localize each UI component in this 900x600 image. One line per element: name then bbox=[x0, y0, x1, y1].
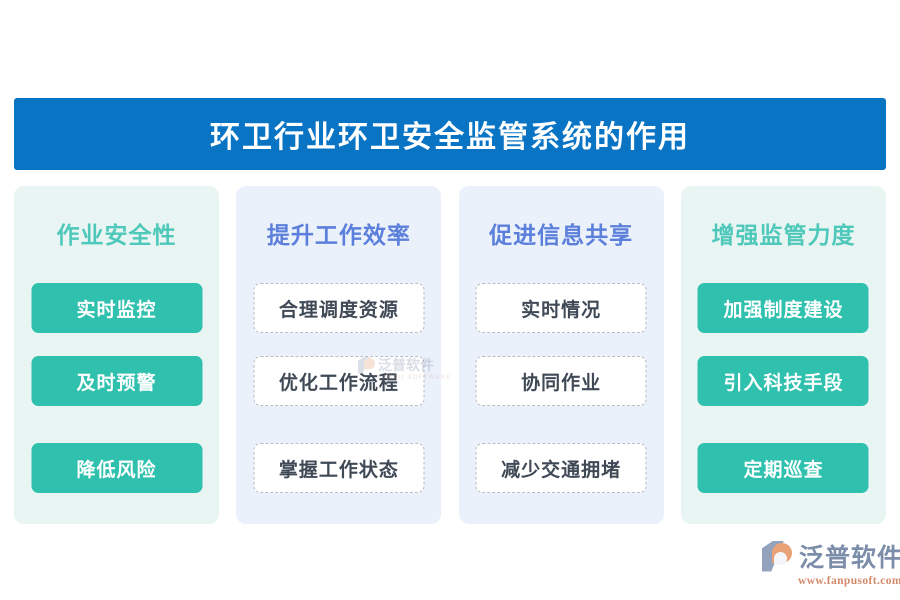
column-items-3: 实时情况 协同作业 减少交通拥堵 bbox=[459, 283, 664, 513]
column-1-item-1[interactable]: 实时监控 bbox=[31, 283, 202, 333]
column-3-item-1[interactable]: 实时情况 bbox=[476, 283, 647, 333]
column-title-2: 提升工作效率 bbox=[267, 216, 411, 250]
column-panel-2: 提升工作效率 合理调度资源 优化工作流程 掌握工作状态 bbox=[236, 186, 441, 524]
column-4-item-3[interactable]: 定期巡查 bbox=[698, 443, 869, 493]
column-1-item-3[interactable]: 降低风险 bbox=[31, 443, 202, 493]
column-1-item-2[interactable]: 及时预警 bbox=[31, 356, 202, 406]
column-2-item-3[interactable]: 掌握工作状态 bbox=[253, 443, 424, 493]
column-container: 作业安全性 实时监控 及时预警 降低风险 提升工作效率 合理调度资源 优化工作流… bbox=[14, 186, 886, 524]
column-title-4: 增强监管力度 bbox=[711, 216, 855, 250]
column-title-3: 促进信息共享 bbox=[489, 216, 633, 250]
header-banner: 环卫行业环卫安全监管系统的作用 bbox=[14, 98, 886, 170]
column-4-item-2[interactable]: 引入科技手段 bbox=[698, 356, 869, 406]
brand-logo: 泛普软件 www.fanpusoft.com bbox=[762, 538, 900, 587]
page-title: 环卫行业环卫安全监管系统的作用 bbox=[210, 112, 690, 156]
column-2-item-2[interactable]: 优化工作流程 bbox=[253, 356, 424, 406]
column-items-2: 合理调度资源 优化工作流程 掌握工作状态 bbox=[236, 283, 441, 513]
column-title-1: 作业安全性 bbox=[57, 216, 177, 250]
column-3-item-2[interactable]: 协同作业 bbox=[476, 356, 647, 406]
column-2-item-1[interactable]: 合理调度资源 bbox=[253, 283, 424, 333]
brand-url: www.fanpusoft.com bbox=[798, 575, 900, 587]
fanpu-logo-icon bbox=[762, 541, 793, 572]
column-panel-3: 促进信息共享 实时情况 协同作业 减少交通拥堵 bbox=[459, 186, 664, 524]
column-items-1: 实时监控 及时预警 降低风险 bbox=[14, 283, 219, 513]
column-panel-4: 增强监管力度 加强制度建设 引入科技手段 定期巡查 bbox=[681, 186, 886, 524]
brand-logo-row: 泛普软件 bbox=[762, 538, 900, 574]
column-items-4: 加强制度建设 引入科技手段 定期巡查 bbox=[681, 283, 886, 513]
infographic-root: 环卫行业环卫安全监管系统的作用 作业安全性 实时监控 及时预警 降低风险 提升工… bbox=[0, 0, 900, 600]
column-3-item-3[interactable]: 减少交通拥堵 bbox=[476, 443, 647, 493]
column-4-item-1[interactable]: 加强制度建设 bbox=[698, 283, 869, 333]
brand-name: 泛普软件 bbox=[799, 538, 900, 574]
column-panel-1: 作业安全性 实时监控 及时预警 降低风险 bbox=[14, 186, 219, 524]
